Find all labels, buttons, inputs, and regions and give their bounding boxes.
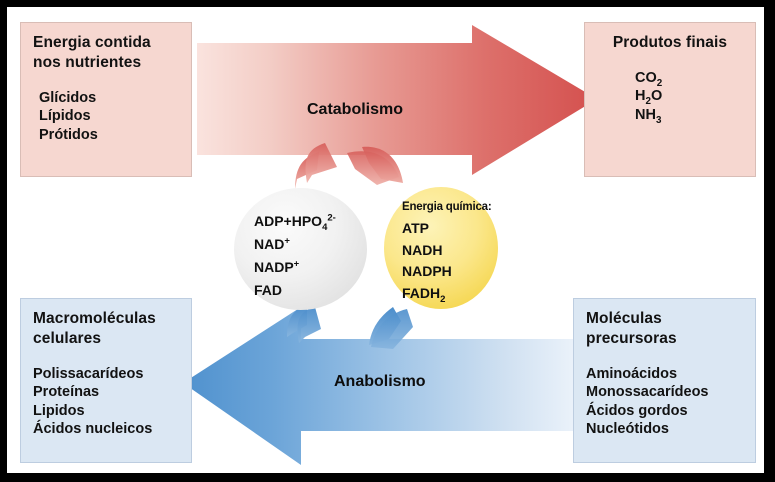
macromolecules-list: Polissacarídeos Proteínas Lipidos Ácidos… (33, 365, 191, 439)
precursor-molecules-heading: Moléculas precursoras (586, 309, 755, 349)
catabolism-arrow-shape (197, 25, 597, 175)
list-item: NH3 (635, 106, 755, 125)
chemical-energy-list: Energia química: ATP NADH NADPH FADH2 (402, 199, 491, 305)
list-item: FADH2 (402, 283, 491, 305)
list-item: Monossacarídeos (586, 383, 755, 402)
chemical-energy-circle: Energia química: ATP NADH NADPH FADH2 (384, 187, 498, 309)
anabolism-label: Anabolismo (334, 373, 426, 391)
chemical-energy-caption: Energia química: (402, 199, 491, 217)
list-item: Lípidos (39, 107, 191, 126)
macromolecules-heading: Macromoléculas celulares (33, 309, 191, 349)
list-item: Glícidos (39, 89, 191, 108)
list-item: NADH (402, 240, 491, 262)
macromolecules-box: Macromoléculas celulares Polissacarídeos… (20, 298, 192, 463)
list-item: Prótidos (39, 126, 191, 145)
list-item: FAD (254, 279, 336, 302)
precursor-molecules-box: Moléculas precursoras Aminoácidos Monoss… (573, 298, 756, 463)
list-item: Nucleótidos (586, 420, 755, 439)
nutrients-box: Energia contida nos nutrientes Glícidos … (20, 22, 192, 177)
list-item: Ácidos gordos (586, 402, 755, 421)
catabolism-label: Catabolismo (307, 101, 403, 119)
list-item: NADP+ (254, 256, 336, 279)
diagram-canvas: Catabolismo Anabolismo ADP+HPO42- NAD+ N… (0, 0, 775, 482)
list-item: ADP+HPO42- (254, 210, 336, 233)
list-item: Polissacarídeos (33, 365, 191, 384)
nutrients-heading: Energia contida nos nutrientes (33, 33, 191, 73)
nutrients-list: Glícidos Lípidos Prótidos (33, 89, 191, 145)
precursor-molecules-list: Aminoácidos Monossacarídeos Ácidos gordo… (586, 365, 755, 439)
list-item: NADPH (402, 261, 491, 283)
list-item: Ácidos nucleicos (33, 420, 191, 439)
list-item: ATP (402, 218, 491, 240)
oxidized-coenzymes-list: ADP+HPO42- NAD+ NADP+ FAD (254, 210, 336, 302)
catabolism-arrow (197, 25, 597, 175)
final-products-list: CO2 H2O NH3 (597, 69, 755, 125)
list-item: NAD+ (254, 233, 336, 256)
list-item: CO2 (635, 69, 755, 88)
final-products-heading: Produtos finais (597, 33, 755, 53)
list-item: Lipidos (33, 402, 191, 421)
oxidized-coenzymes-circle: ADP+HPO42- NAD+ NADP+ FAD (234, 188, 367, 310)
list-item: Proteínas (33, 383, 191, 402)
final-products-box: Produtos finais CO2 H2O NH3 (584, 22, 756, 177)
list-item: Aminoácidos (586, 365, 755, 384)
list-item: H2O (635, 87, 755, 106)
diagram-stage: Catabolismo Anabolismo ADP+HPO42- NAD+ N… (7, 7, 764, 473)
